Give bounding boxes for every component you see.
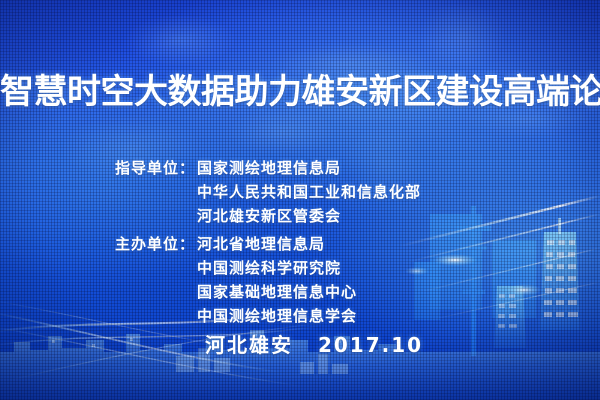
guidance-units-block: 指导单位： 国家测绘地理信息局 中华人民共和国工业和信息化部 河北雄安新区管委会: [115, 156, 421, 228]
host-unit-item: 中国测绘科学研究院: [197, 256, 357, 280]
banner-title: 智慧时空大数据助力雄安新区建设高端论坛: [0, 72, 600, 112]
event-location: 河北雄安: [205, 333, 293, 357]
event-date: 2017.10: [318, 333, 423, 357]
host-unit-item: 中国测绘地理信息学会: [197, 304, 357, 328]
banner-content: 智慧时空大数据助力雄安新区建设高端论坛 指导单位： 国家测绘地理信息局 中华人民…: [0, 0, 600, 400]
host-unit-item: 国家基础地理信息中心: [197, 280, 357, 304]
conference-backdrop: 智慧时空大数据助力雄安新区建设高端论坛 指导单位： 国家测绘地理信息局 中华人民…: [0, 0, 600, 400]
host-unit-item: 河北省地理信息局: [197, 232, 357, 256]
guidance-units-list: 国家测绘地理信息局 中华人民共和国工业和信息化部 河北雄安新区管委会: [197, 156, 421, 228]
guidance-unit-item: 河北雄安新区管委会: [197, 204, 421, 228]
guidance-units-label: 指导单位：: [115, 156, 195, 180]
guidance-unit-item: 国家测绘地理信息局: [197, 156, 421, 180]
event-footer: 河北雄安 2017.10: [205, 332, 423, 358]
host-units-label: 主办单位：: [115, 232, 195, 256]
host-units-list: 河北省地理信息局 中国测绘科学研究院 国家基础地理信息中心 中国测绘地理信息学会: [197, 232, 357, 328]
host-units-block: 主办单位： 河北省地理信息局 中国测绘科学研究院 国家基础地理信息中心 中国测绘…: [115, 232, 357, 328]
guidance-unit-item: 中华人民共和国工业和信息化部: [197, 180, 421, 204]
